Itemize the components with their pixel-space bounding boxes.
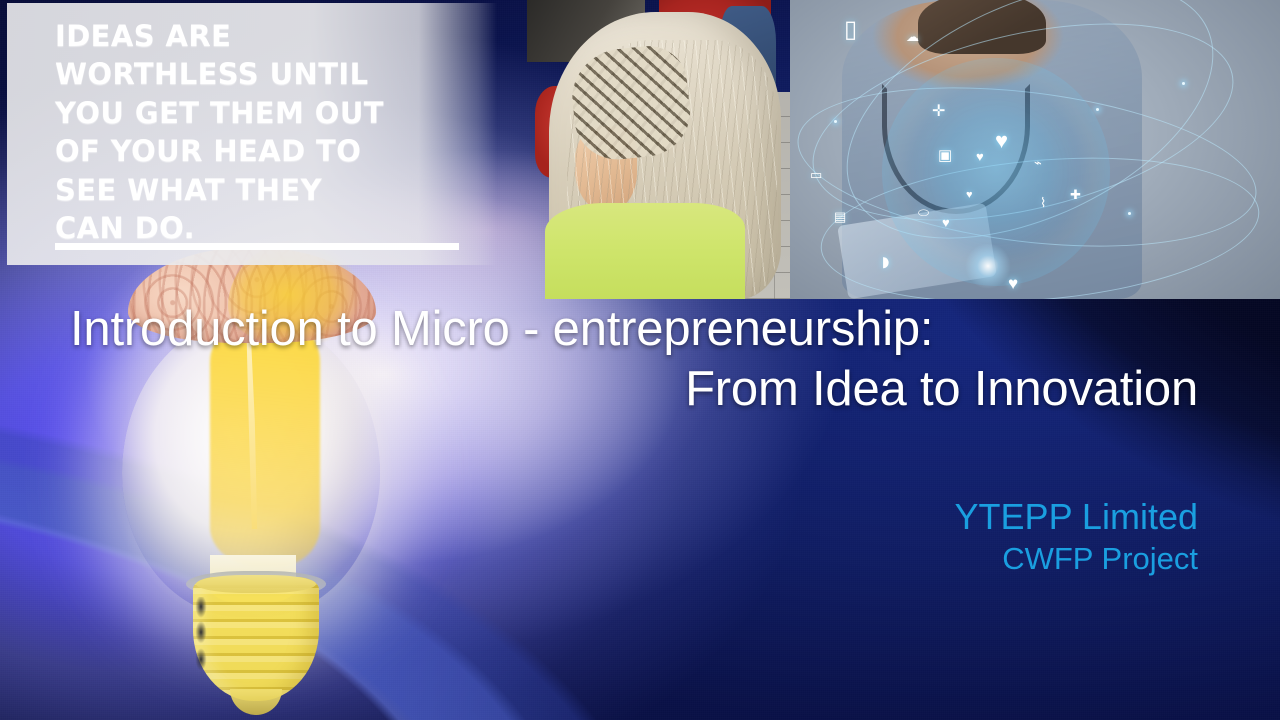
tooth-icon: ◗	[878, 248, 894, 274]
laptop-icon: ▭	[810, 168, 822, 181]
presentation-slide: IDEAS ARE WORTHLESS UNTIL YOU GET THEM O…	[0, 0, 1280, 720]
dna-icon: ⌇	[1040, 196, 1046, 209]
mobile-phone-icon: ▯	[844, 18, 857, 42]
photo-healthcare-technology: ▯ ☁ ▭ ▤ ✛ ♥ ♥ ♥ ♥ ▣ ⬭ ⌇ ✚ ⌁ ♥ ◗	[790, 0, 1280, 299]
photo-child-braided-hair	[527, 0, 790, 299]
heartbeat-icon: ♥	[995, 130, 1008, 152]
pill-icon: ⬭	[918, 206, 929, 219]
project-name: CWFP Project	[955, 537, 1198, 582]
quote-text: IDEAS ARE WORTHLESS UNTIL YOU GET THEM O…	[55, 17, 471, 248]
organization-name: YTEPP Limited	[955, 497, 1198, 537]
medical-cross-icon: ✛	[932, 104, 945, 120]
bulb-screw-base	[193, 577, 319, 701]
calendar-icon: ▤	[834, 210, 846, 223]
syringe-icon: ⌁	[1034, 156, 1042, 169]
medical-cross-icon: ✚	[1070, 188, 1081, 201]
quote-underline-rule	[55, 243, 459, 250]
hologram-dot	[834, 120, 837, 123]
cloud-icon: ☁	[906, 30, 919, 43]
title-line-2: From Idea to Innovation	[70, 360, 1198, 420]
hologram-dot	[1096, 108, 1099, 111]
bulb-base-tip	[230, 689, 282, 715]
hologram-dot	[1128, 212, 1131, 215]
title-line-1: Introduction to Micro - entrepreneurship…	[70, 300, 1198, 360]
hologram-dot	[1182, 82, 1185, 85]
quote-card: IDEAS ARE WORTHLESS UNTIL YOU GET THEM O…	[7, 3, 497, 265]
yellow-shirt	[545, 203, 745, 299]
heart-icon: ♥	[976, 150, 984, 163]
slide-title: Introduction to Micro - entrepreneurship…	[70, 300, 1198, 420]
light-flare	[958, 236, 1018, 296]
monitor-icon: ▣	[938, 148, 952, 163]
slide-subtitle: YTEPP Limited CWFP Project	[955, 497, 1198, 582]
heart-icon: ♥	[942, 216, 950, 229]
bulb-base-contacts	[193, 597, 209, 677]
bulb-base-collar	[196, 575, 316, 593]
heart-icon: ♥	[966, 190, 973, 201]
